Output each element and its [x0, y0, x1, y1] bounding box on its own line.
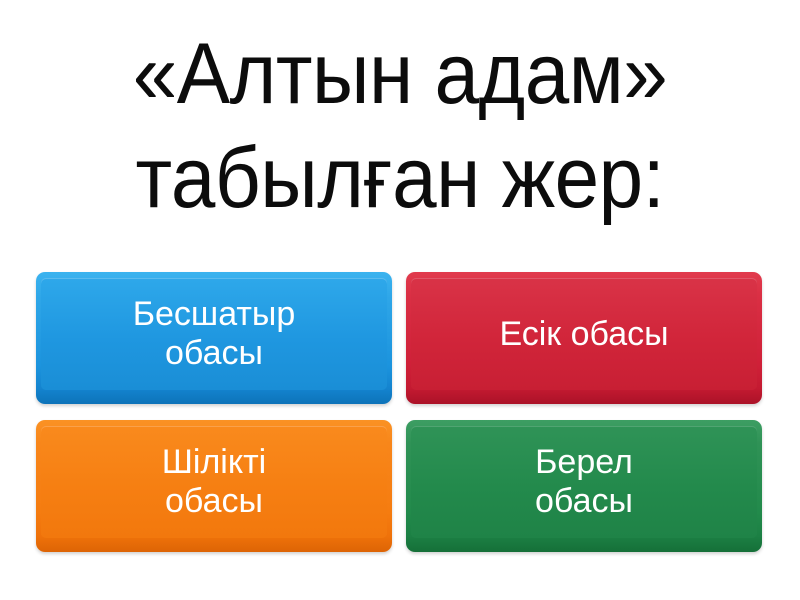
question-text: «Алтын адам» табылған жер: [0, 22, 800, 230]
answer-option-3[interactable]: Шілікті обасы [36, 420, 392, 552]
quiz-screen: «Алтын адам» табылған жер: Бесшатыр обас… [0, 0, 800, 600]
answer-option-4-label: Берел обасы [535, 443, 633, 521]
answer-option-1[interactable]: Бесшатыр обасы [36, 272, 392, 404]
answer-option-3-label: Шілікті обасы [162, 443, 267, 521]
question-line-2: табылған жер: [28, 126, 772, 230]
answer-option-2[interactable]: Есік обасы [406, 272, 762, 404]
question-line-1: «Алтын адам» [28, 22, 772, 126]
answer-option-2-label: Есік обасы [499, 315, 668, 354]
answer-option-4[interactable]: Берел обасы [406, 420, 762, 552]
answer-option-1-label: Бесшатыр обасы [133, 295, 296, 373]
answer-options-grid: Бесшатыр обасы Есік обасы Шілікті обасы … [36, 272, 764, 552]
